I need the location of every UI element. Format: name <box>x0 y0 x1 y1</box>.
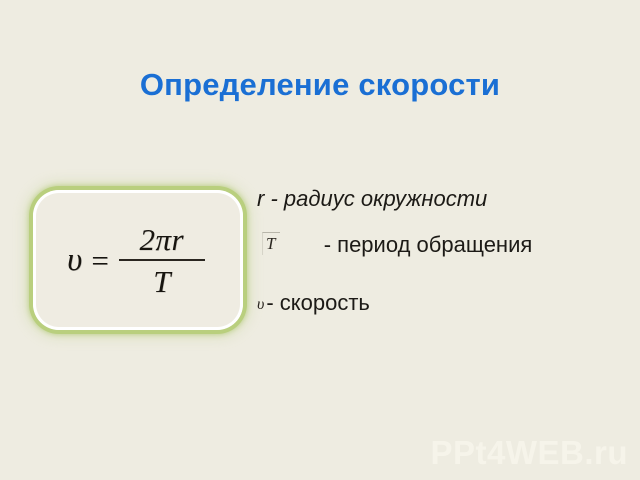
slide-canvas: Определение скорости υ = 2πr T r - радиу… <box>0 0 640 480</box>
legend-item-period: T - период обращения <box>257 232 557 257</box>
legend-item-radius: r - радиус окружности <box>257 186 623 212</box>
speed-formula: υ = 2πr T <box>67 224 205 297</box>
formula-denominator: T <box>153 261 170 297</box>
speed-symbol-glyph: υ <box>257 292 266 318</box>
formula-lhs-symbol: υ <box>67 244 91 277</box>
legend-block: r - радиус окружности T - период обращен… <box>257 186 623 212</box>
formula-fraction: 2πr T <box>119 224 205 297</box>
period-symbol-glyph: T <box>262 232 280 255</box>
page-title: Определение скорости <box>0 66 640 104</box>
legend-item-speed: υ- скорость <box>257 290 370 319</box>
watermark: PPt4WEB.ru <box>430 434 628 472</box>
formula-card: υ = 2πr T <box>33 190 243 330</box>
legend-item-speed-label: - скорость <box>266 290 370 315</box>
formula-equals-sign: = <box>91 245 118 276</box>
formula-numerator: 2πr <box>136 224 189 259</box>
legend-item-period-label: - период обращения <box>257 232 557 257</box>
